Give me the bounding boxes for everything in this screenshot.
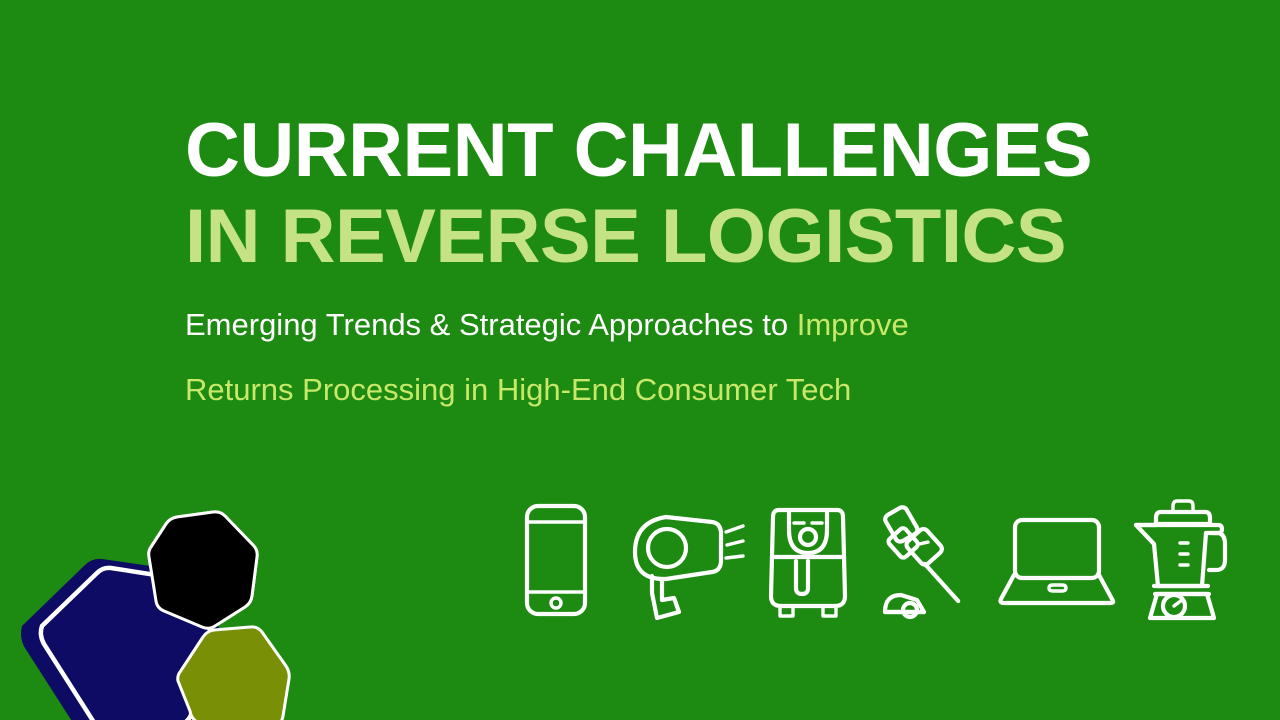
page-title-line-2: IN REVERSE LOGISTICS (185, 194, 1145, 280)
presentation-slide: CURRENT CHALLENGES IN REVERSE LOGISTICS … (0, 0, 1280, 720)
icon-cell-stick-vacuum (877, 498, 987, 623)
subtitle-line-1: Emerging Trends & Strategic Approaches t… (185, 305, 1145, 345)
icon-cell-blender (1125, 498, 1235, 623)
stick-vacuum-icon (877, 500, 987, 620)
page-title-line-1: CURRENT CHALLENGES (185, 108, 1145, 194)
smartphone-icon (520, 500, 600, 620)
subtitle-line-2: Returns Processing in High-End Consumer … (185, 370, 1145, 410)
slide-text-block: CURRENT CHALLENGES IN REVERSE LOGISTICS … (185, 108, 1145, 410)
appliance-icon-row (505, 495, 1235, 625)
subtitle-text-accent: Improve (797, 307, 909, 342)
hexagon-decoration-cluster (0, 440, 300, 720)
hair-dryer-icon (624, 500, 744, 620)
air-fryer-icon (763, 500, 853, 620)
icon-cell-air-fryer (753, 498, 863, 623)
blender-icon (1130, 498, 1230, 623)
icon-cell-laptop (1001, 498, 1111, 623)
icon-cell-hair-dryer (629, 498, 739, 623)
laptop-icon (997, 515, 1115, 605)
icon-cell-smartphone (505, 498, 615, 623)
subtitle-text-white: Emerging Trends & Strategic Approaches t… (185, 307, 797, 342)
hexagon-decoration-svg (0, 440, 300, 720)
